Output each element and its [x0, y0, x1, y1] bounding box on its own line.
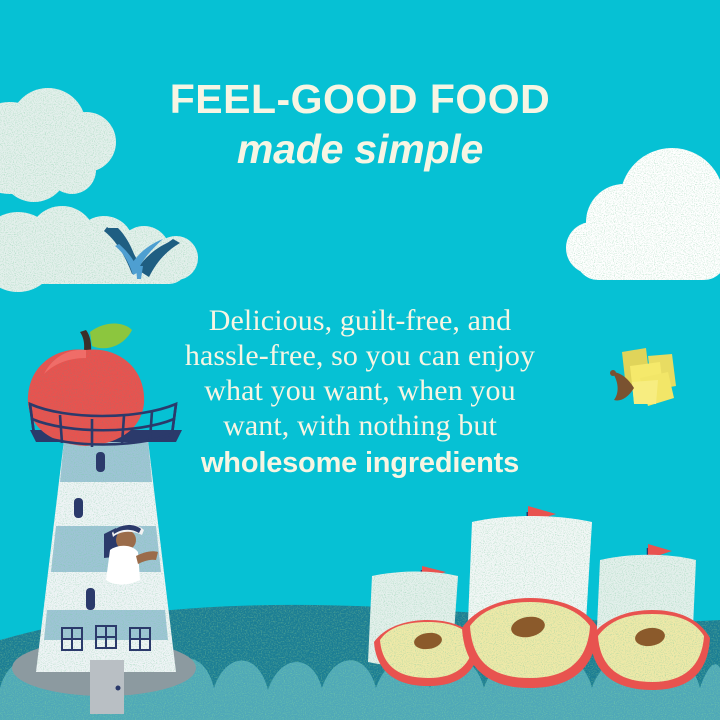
body-line-4: want, with nothing but: [128, 408, 592, 443]
tower-window-slit-1: [96, 452, 105, 472]
body-line-3: what you want, when you: [128, 373, 592, 408]
apple-body: [28, 349, 144, 446]
poster-canvas: FEEL-GOOD FOOD made simple Delicious, gu…: [0, 0, 720, 720]
headline-block: FEEL-GOOD FOOD made simple: [0, 78, 720, 173]
body-line-2: hassle-free, so you can enjoy: [128, 338, 592, 373]
apple-boat-right: [590, 544, 710, 690]
body-line-1: Delicious, guilt-free, and: [128, 303, 592, 338]
tower-window-slit-2: [74, 498, 83, 518]
headline-secondary: made simple: [0, 125, 720, 173]
tower-window-slit-3: [86, 588, 95, 610]
headline-primary: FEEL-GOOD FOOD: [0, 78, 720, 121]
body-emphasis-line: wholesome ingredients: [128, 443, 592, 483]
apple-boat-center: [462, 506, 598, 688]
body-copy-block: Delicious, guilt-free, and hassle-free, …: [128, 303, 592, 483]
